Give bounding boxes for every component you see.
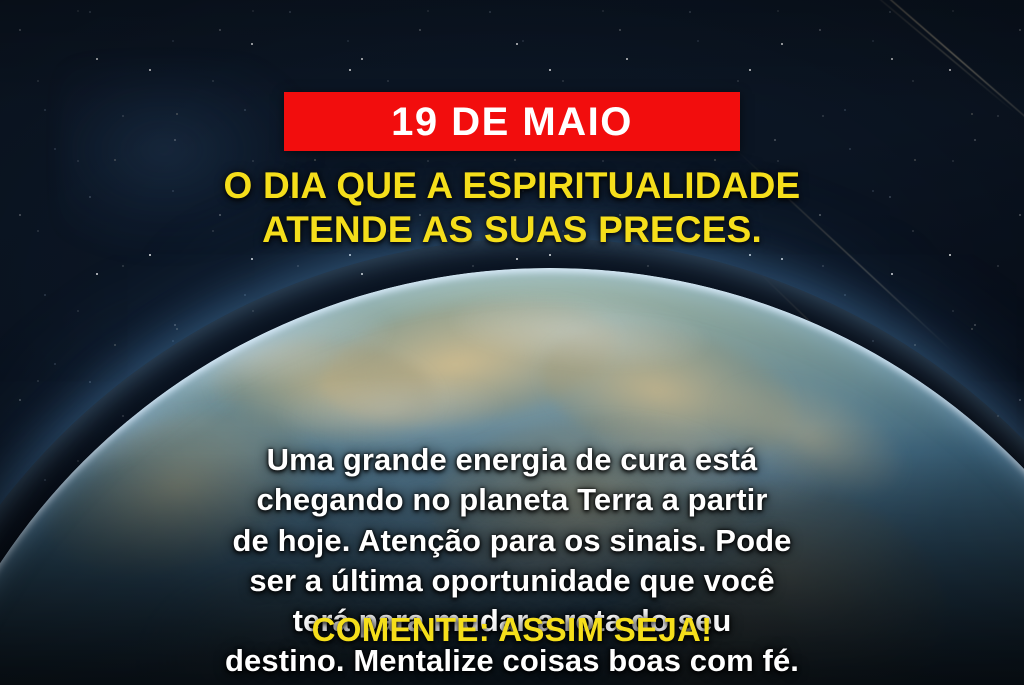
poster-text-layer: 19 DE MAIO O DIA QUE A ESPIRITUALIDADE A… (0, 0, 1024, 685)
headline-line-2: ATENDE AS SUAS PRECES. (0, 208, 1024, 252)
body-line-2: chegando no planeta Terra a partir (0, 480, 1024, 520)
call-to-action: COMENTE: ASSIM SEJA! (0, 612, 1024, 648)
headline: O DIA QUE A ESPIRITUALIDADE ATENDE AS SU… (0, 164, 1024, 251)
call-to-action-label: COMENTE: ASSIM SEJA! (312, 611, 713, 648)
date-badge-label: 19 DE MAIO (391, 102, 633, 142)
date-badge: 19 DE MAIO (284, 92, 740, 151)
body-line-3: de hoje. Atenção para os sinais. Pode (0, 521, 1024, 561)
body-line-4: ser a última oportunidade que você (0, 561, 1024, 601)
poster-image: 19 DE MAIO O DIA QUE A ESPIRITUALIDADE A… (0, 0, 1024, 685)
headline-line-1: O DIA QUE A ESPIRITUALIDADE (0, 164, 1024, 208)
body-line-1: Uma grande energia de cura está (0, 440, 1024, 480)
